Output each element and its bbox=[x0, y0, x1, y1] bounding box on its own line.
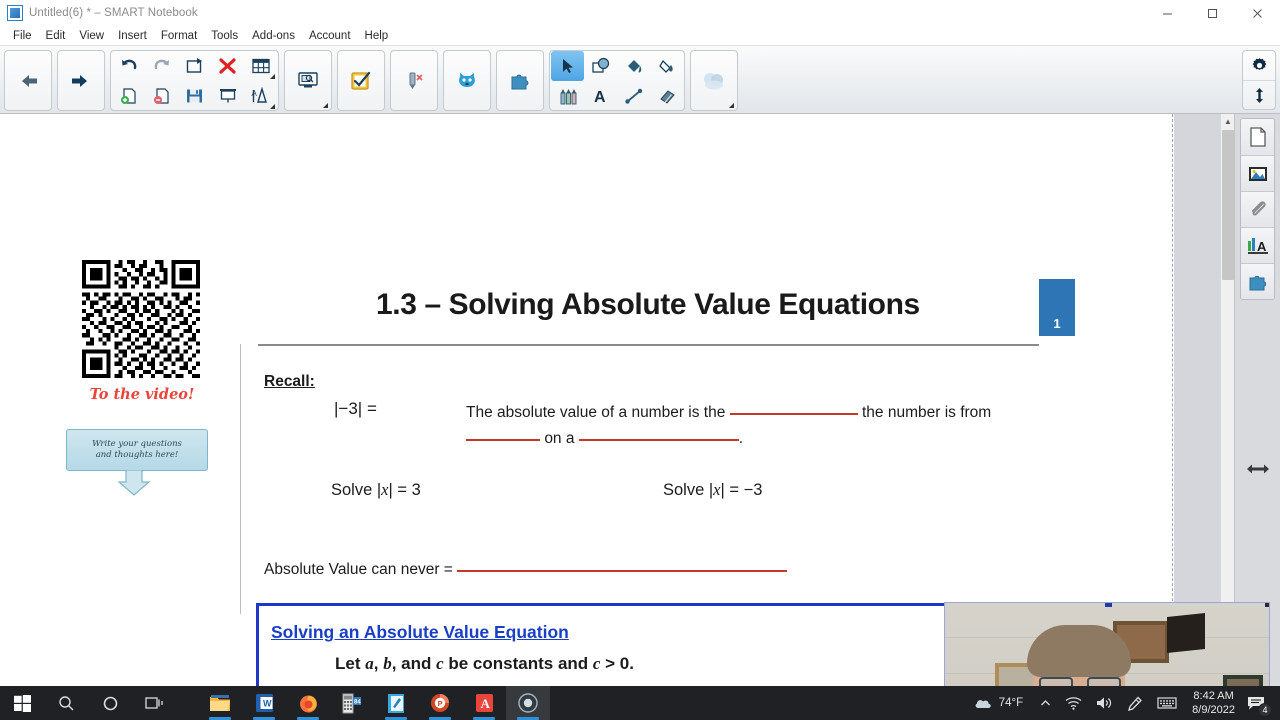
move-to-page-button[interactable] bbox=[178, 51, 211, 81]
resize-handle-top-right[interactable] bbox=[1265, 602, 1270, 607]
insert-table-button[interactable] bbox=[244, 51, 277, 81]
page-icon bbox=[1248, 126, 1268, 148]
text-tool-button[interactable]: A bbox=[584, 81, 617, 111]
cortana-icon bbox=[102, 695, 119, 712]
weather-temperature: 74°F bbox=[999, 697, 1023, 709]
callout-line-2: and thoughts here! bbox=[96, 450, 179, 461]
svg-text:A: A bbox=[251, 89, 257, 98]
svg-text:W: W bbox=[263, 699, 272, 709]
add-ons-button[interactable] bbox=[498, 52, 542, 110]
screen-recorder-icon bbox=[517, 692, 539, 714]
toolbar-group-lab bbox=[443, 50, 491, 111]
taskbar-clock[interactable]: 8:42 AM 8/9/2022 bbox=[1184, 686, 1243, 720]
window-controls bbox=[1145, 0, 1280, 26]
solve-equation-right: Solve |x| = −3 bbox=[663, 480, 762, 500]
lesson-activity-builder-button[interactable] bbox=[445, 52, 489, 110]
save-button[interactable] bbox=[178, 81, 211, 111]
adobe-acrobat-icon: A bbox=[475, 693, 494, 713]
firefox-icon bbox=[298, 693, 319, 714]
toolbar-group-tools: A bbox=[549, 50, 685, 111]
pen-menu-button[interactable] bbox=[1120, 686, 1150, 720]
menu-account[interactable]: Account bbox=[302, 29, 358, 43]
powerpoint-icon: P bbox=[430, 693, 450, 713]
clock-time: 8:42 AM bbox=[1193, 689, 1233, 703]
keyboard-icon bbox=[1157, 696, 1177, 710]
microsoft-word-icon: W bbox=[255, 693, 274, 713]
svg-text:A: A bbox=[480, 696, 490, 711]
toolbar-group-transparency bbox=[690, 50, 738, 111]
page-title: 1.3 – Solving Absolute Value Equations bbox=[376, 288, 920, 322]
never-equal-text: Absolute Value can never = bbox=[264, 561, 453, 578]
maximize-button[interactable] bbox=[1190, 0, 1235, 26]
taskbar-app-powerpoint[interactable]: P bbox=[418, 686, 462, 720]
taskbar-app-adobe-acrobat[interactable]: A bbox=[462, 686, 506, 720]
slide-title-block: 1.3 – Solving Absolute Value Equations 1 bbox=[240, 284, 1075, 346]
workspace: To the video! Write your questions and t… bbox=[0, 114, 1280, 686]
minimize-button[interactable] bbox=[1145, 0, 1190, 26]
never-equal-blank[interactable] bbox=[457, 570, 787, 572]
cloud-icon bbox=[973, 696, 993, 710]
clock-date: 8/9/2022 bbox=[1192, 703, 1235, 717]
next-page-button[interactable] bbox=[59, 52, 103, 110]
definition-part-2: the number bbox=[862, 404, 940, 421]
menu-add-ons[interactable]: Add-ons bbox=[245, 29, 302, 43]
qr-code-image bbox=[82, 260, 200, 378]
resize-handle-top[interactable] bbox=[1105, 602, 1112, 607]
taskbar-app-screen-recorder[interactable] bbox=[506, 686, 550, 720]
expand-collapse-icon[interactable] bbox=[1243, 80, 1275, 109]
smart-response-button[interactable] bbox=[339, 52, 383, 110]
settings-gear-icon[interactable] bbox=[1243, 51, 1275, 80]
menu-format[interactable]: Format bbox=[154, 29, 204, 43]
pens-tool-button[interactable] bbox=[551, 81, 584, 111]
abs-expression: |−3| = bbox=[334, 399, 377, 419]
gallery-icon bbox=[1247, 164, 1269, 184]
page-number-badge: 1 bbox=[1039, 279, 1075, 336]
definition-blank-1[interactable] bbox=[730, 413, 858, 415]
calculator-icon: 84 bbox=[342, 693, 362, 714]
callout-arrow-icon bbox=[116, 470, 156, 496]
table-dropdown-arrow[interactable] bbox=[270, 74, 275, 79]
previous-page-button[interactable] bbox=[6, 52, 50, 110]
taskbar-app-microsoft-word[interactable]: W bbox=[242, 686, 286, 720]
toolbar-group-navigation-next bbox=[57, 50, 105, 111]
notebook-page[interactable]: To the video! Write your questions and t… bbox=[0, 114, 1172, 686]
attachments-tab[interactable] bbox=[1241, 191, 1274, 227]
presenter-figure bbox=[1005, 631, 1155, 686]
volume-icon bbox=[1096, 696, 1113, 710]
wifi-icon bbox=[1065, 696, 1082, 710]
svg-text:A: A bbox=[594, 89, 606, 105]
add-ons-tab[interactable] bbox=[1241, 263, 1274, 299]
menu-edit[interactable]: Edit bbox=[39, 29, 73, 43]
never-equal-statement: Absolute Value can never = bbox=[264, 561, 787, 579]
pen-icon bbox=[1127, 696, 1143, 711]
wall-picture-right bbox=[1223, 675, 1263, 686]
toolbar-group-response bbox=[337, 50, 385, 111]
taskbar-app-file-explorer[interactable] bbox=[198, 686, 242, 720]
page-sorter-tab[interactable] bbox=[1241, 119, 1274, 155]
definition-part-4: on a bbox=[544, 430, 574, 447]
menu-tools[interactable]: Tools bbox=[204, 29, 245, 43]
toolbar-group-pen-id bbox=[390, 50, 438, 111]
gallery-tab[interactable] bbox=[1241, 155, 1274, 191]
select-tool-button[interactable] bbox=[551, 51, 584, 81]
toolbar-group-edit: A bbox=[110, 50, 279, 111]
svg-text:P: P bbox=[438, 699, 443, 708]
theorem-constants-line: Let a, b, and c be constants and c > 0. bbox=[335, 654, 634, 674]
add-page-before-button[interactable] bbox=[112, 81, 145, 111]
start-button[interactable] bbox=[0, 686, 44, 720]
show-hidden-icons-button[interactable] bbox=[1033, 686, 1058, 720]
eraser-tool-button[interactable] bbox=[650, 81, 683, 111]
scroll-up-arrow[interactable]: ▲ bbox=[1221, 114, 1235, 128]
file-explorer-icon bbox=[209, 694, 231, 713]
search-icon bbox=[58, 695, 75, 712]
taskbar-app-firefox[interactable] bbox=[286, 686, 330, 720]
line-tool-button[interactable] bbox=[617, 81, 650, 111]
shape-fill-tool-button[interactable] bbox=[617, 51, 650, 81]
definition-blank-2[interactable] bbox=[466, 439, 540, 441]
notification-count-badge: 4 bbox=[1258, 703, 1272, 717]
svg-text:A: A bbox=[1257, 239, 1267, 254]
definition-blank-3[interactable] bbox=[579, 439, 739, 441]
svg-text:84: 84 bbox=[354, 699, 361, 705]
rail-resize-handle[interactable] bbox=[1235, 462, 1280, 476]
search-button[interactable] bbox=[44, 686, 88, 720]
paperclip-icon bbox=[1247, 199, 1269, 221]
shapes-tool-button[interactable] bbox=[584, 51, 617, 81]
title-underline bbox=[258, 344, 1039, 346]
toolbar-group-addons bbox=[496, 50, 544, 111]
paint-bucket-tool-button[interactable] bbox=[650, 51, 683, 81]
callout-line-1: Write your questions bbox=[92, 439, 182, 450]
wifi-status-button[interactable] bbox=[1058, 686, 1089, 720]
window-title: Untitled(6) * – SMART Notebook bbox=[29, 7, 198, 19]
volume-button[interactable] bbox=[1089, 686, 1120, 720]
recall-heading: Recall: bbox=[264, 373, 315, 391]
questions-callout: Write your questions and thoughts here! bbox=[66, 429, 208, 471]
menu-insert[interactable]: Insert bbox=[111, 29, 154, 43]
measurement-tools-button[interactable]: A bbox=[244, 81, 277, 111]
puzzle-icon bbox=[1247, 272, 1269, 292]
taskbar-app-smart-notebook[interactable] bbox=[374, 686, 418, 720]
toolbar-right-buttons bbox=[1242, 50, 1276, 110]
menu-view[interactable]: View bbox=[72, 29, 111, 43]
screen-shade-button[interactable] bbox=[211, 81, 244, 111]
touch-keyboard-button[interactable] bbox=[1150, 686, 1184, 720]
capture-dropdown-arrow[interactable] bbox=[323, 103, 328, 108]
taskbar-app-calculator[interactable]: 84 bbox=[330, 686, 374, 720]
resize-horizontal-icon bbox=[1246, 462, 1270, 476]
add-page-after-button[interactable] bbox=[145, 81, 178, 111]
content-left-rule bbox=[240, 344, 241, 614]
scrollbar-thumb[interactable] bbox=[1222, 130, 1234, 280]
webcam-video-overlay[interactable] bbox=[944, 602, 1270, 686]
weather-widget[interactable]: 74°F bbox=[967, 696, 1033, 710]
task-view-button[interactable] bbox=[132, 686, 176, 720]
theorem-title: Solving an Absolute Value Equation bbox=[271, 622, 569, 643]
vertical-scrollbar[interactable]: ▲ bbox=[1220, 114, 1234, 686]
measurement-dropdown-arrow[interactable] bbox=[270, 104, 275, 109]
transparency-dropdown-arrow[interactable] bbox=[729, 103, 734, 108]
windows-logo-icon bbox=[14, 695, 31, 712]
delete-button[interactable] bbox=[211, 51, 244, 81]
solve-equation-left: Solve |x| = 3 bbox=[331, 480, 421, 500]
wall-speaker bbox=[1167, 613, 1205, 653]
properties-icon: A bbox=[1246, 236, 1270, 256]
app-icon bbox=[7, 5, 23, 21]
side-tab-rail: A bbox=[1234, 114, 1280, 686]
task-view-icon bbox=[145, 695, 164, 711]
cortana-button[interactable] bbox=[88, 686, 132, 720]
definition-paragraph: The absolute value of a number is the th… bbox=[466, 400, 1056, 452]
definition-part-1: The absolute value of a number is the bbox=[466, 404, 725, 421]
properties-tab[interactable]: A bbox=[1241, 227, 1274, 263]
main-toolbar: A bbox=[0, 46, 1280, 114]
menu-file[interactable]: File bbox=[6, 29, 39, 43]
side-tab-group: A bbox=[1240, 118, 1275, 300]
menu-bar: File Edit View Insert Format Tools Add-o… bbox=[0, 26, 1280, 46]
definition-part-5: . bbox=[739, 430, 743, 447]
transparency-button[interactable] bbox=[692, 52, 736, 110]
redo-button[interactable] bbox=[145, 51, 178, 81]
undo-button[interactable] bbox=[112, 51, 145, 81]
pen-id-button[interactable] bbox=[392, 52, 436, 110]
screen-capture-button[interactable] bbox=[286, 52, 330, 110]
notification-center-button[interactable]: 4 bbox=[1243, 686, 1276, 720]
toolbar-group-navigation bbox=[4, 50, 52, 111]
window-title-bar: Untitled(6) * – SMART Notebook bbox=[0, 0, 1280, 26]
chevron-up-icon bbox=[1040, 698, 1051, 709]
smart-notebook-icon bbox=[386, 693, 406, 714]
windows-taskbar: W 84 P bbox=[0, 686, 1280, 720]
qr-caption: To the video! bbox=[82, 386, 202, 403]
definition-part-3: is from bbox=[945, 404, 992, 421]
system-tray: 74°F bbox=[967, 686, 1280, 720]
toolbar-group-capture bbox=[284, 50, 332, 111]
close-button[interactable] bbox=[1235, 0, 1280, 26]
menu-help[interactable]: Help bbox=[358, 29, 396, 43]
